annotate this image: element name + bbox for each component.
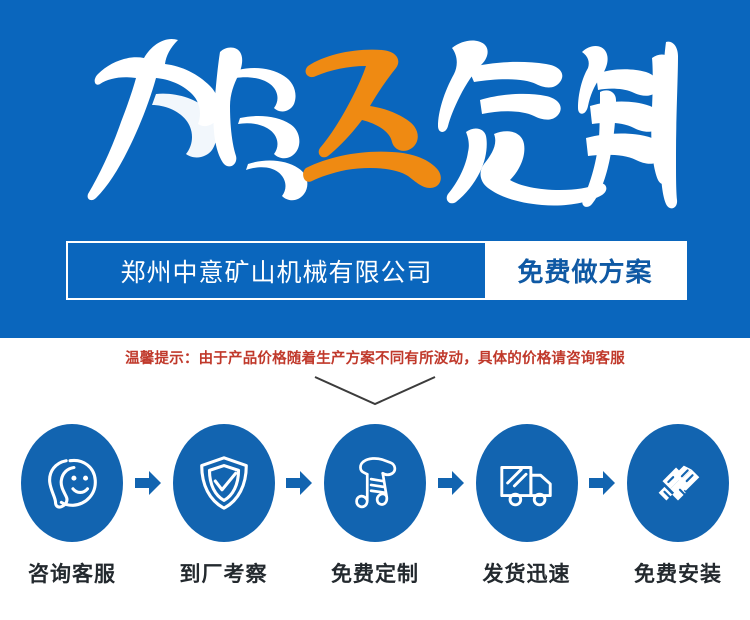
step-label: 免费安装 xyxy=(634,558,722,588)
free-plan-cta[interactable]: 免费做方案 xyxy=(485,243,685,298)
arrow-right-icon-2 xyxy=(282,424,316,542)
process-steps: 咨询客服 到厂考察 xyxy=(0,424,750,584)
scroll-document-icon xyxy=(344,452,406,514)
step-label: 咨询客服 xyxy=(28,558,116,588)
step-bubble xyxy=(627,424,729,542)
step-free-customization[interactable]: 免费定制 xyxy=(321,424,429,588)
shield-check-icon xyxy=(193,452,255,514)
promo-banner-page: 郑州中意矿山机械有限公司 免费做方案 温馨提示：由于产品价格随着生产方案不同有所… xyxy=(0,0,750,620)
company-bar: 郑州中意矿山机械有限公司 免费做方案 xyxy=(66,241,687,300)
step-consult[interactable]: 咨询客服 xyxy=(18,424,126,588)
price-notice-text: 温馨提示：由于产品价格随着生产方案不同有所波动，具体的价格请咨询客服 xyxy=(0,347,750,368)
arrow-right-icon-4 xyxy=(585,424,619,542)
step-label: 发货迅速 xyxy=(483,558,571,588)
step-factory-visit[interactable]: 到厂考察 xyxy=(170,424,278,588)
handshake-icon xyxy=(647,452,709,514)
delivery-truck-icon xyxy=(496,452,558,514)
arrow-right-icon-1 xyxy=(131,424,165,542)
step-bubble xyxy=(21,424,123,542)
hero-banner: 郑州中意矿山机械有限公司 免费做方案 xyxy=(0,0,750,338)
step-free-installation[interactable]: 免费安装 xyxy=(624,424,732,588)
company-name: 郑州中意矿山机械有限公司 xyxy=(68,243,485,298)
step-label: 到厂考察 xyxy=(180,558,268,588)
headline-char-gong xyxy=(303,50,441,188)
step-label: 免费定制 xyxy=(331,558,419,588)
chevron-down-icon xyxy=(313,375,437,407)
step-fast-delivery[interactable]: 发货迅速 xyxy=(473,424,581,588)
arrow-right-icon-3 xyxy=(434,424,468,542)
headline-calligraphy xyxy=(70,22,690,222)
step-bubble xyxy=(476,424,578,542)
headline-char-ding xyxy=(438,41,606,206)
step-bubble xyxy=(324,424,426,542)
phone-smile-icon xyxy=(41,452,103,514)
headline-char-jia xyxy=(88,39,308,200)
headline-char-zhi xyxy=(578,42,678,209)
step-bubble xyxy=(173,424,275,542)
